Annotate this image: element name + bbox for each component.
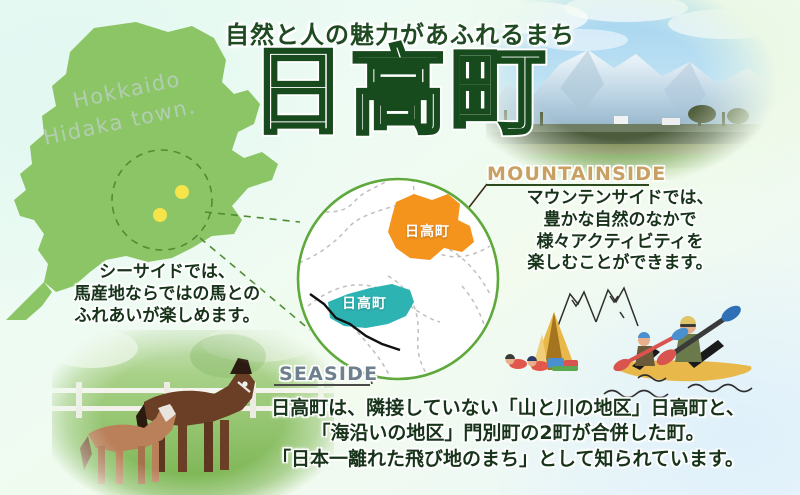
kayak-icon	[611, 303, 751, 382]
inset-label-mountain-region: 日高町	[405, 221, 450, 241]
footer-line-3: 「日本一離れた飛び地のまち」として知られています。	[228, 447, 788, 472]
footer-line-1: 日高町は、隣接していない「山と川の地区」日高町と、	[228, 396, 788, 421]
seaside-description: シーサイドでは、 馬産地ならではの馬との ふれあいが楽しめます。	[42, 262, 292, 327]
mountainside-line-3: 様々アクティビティを	[500, 232, 740, 254]
mountainside-heading: MOUNTAINSIDE	[487, 163, 666, 185]
seaside-heading: SEASIDE	[279, 363, 378, 385]
footer-line-2: 「海沿いの地区」門別町の2町が合併した町。	[228, 421, 788, 446]
seaside-line-3: ふれあいが楽しめます。	[42, 306, 292, 328]
mountainside-heading-rule	[487, 184, 649, 186]
mountainside-line-1: マウンテンサイドでは、	[500, 188, 740, 210]
marker-dot-seaside	[153, 208, 167, 222]
camping-kayaking-illustration	[492, 278, 798, 406]
mountainside-description: マウンテンサイドでは、 豊かな自然のなかで 様々アクティビティを 楽しむことがで…	[500, 188, 740, 275]
seaside-heading-rule	[274, 384, 370, 386]
marker-dot-mountain	[175, 185, 189, 199]
mountain-outline-icon	[558, 288, 638, 326]
poster-canvas: Hokkaido Hidaka town.	[0, 0, 800, 495]
mountainside-line-2: 豊かな自然のなかで	[500, 210, 740, 232]
page-title: 日高町	[0, 40, 800, 146]
inset-map-contents	[292, 176, 504, 382]
seaside-line-2: 馬産地ならではの馬との	[42, 284, 292, 306]
footer-description: 日高町は、隣接していない「山と川の地区」日高町と、 「海沿いの地区」門別町の2町…	[228, 396, 788, 472]
seaside-line-1: シーサイドでは、	[42, 262, 292, 284]
inset-label-seaside-region: 日高町	[342, 293, 387, 313]
inset-detail-map	[292, 176, 504, 382]
mountainside-line-4: 楽しむことができます。	[500, 253, 740, 275]
